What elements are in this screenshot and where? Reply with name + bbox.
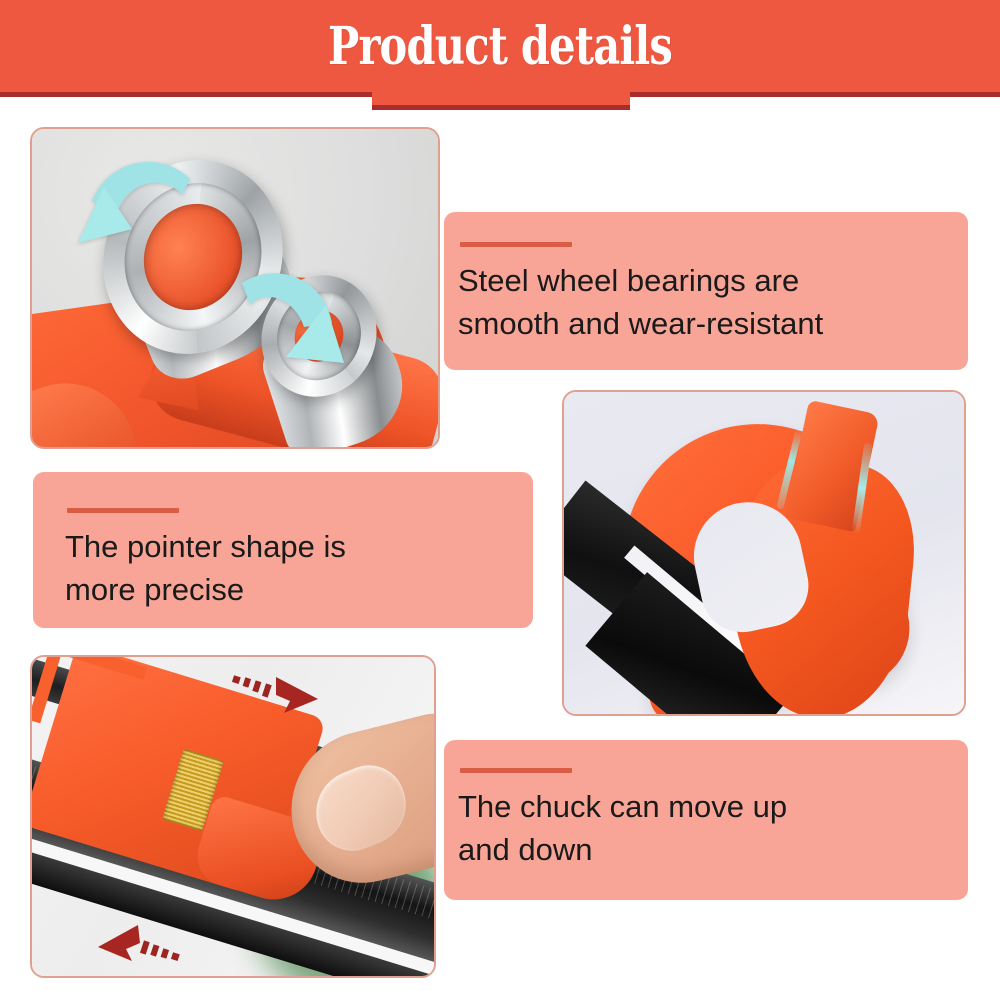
- feature-card-pointer: The pointer shape is more precise: [33, 472, 533, 628]
- photo-background: [564, 392, 964, 714]
- photo-steel-wheel-bearings: [30, 127, 440, 449]
- header-ribbon-left-shadow: [0, 92, 372, 97]
- accent-bar-chuck: [460, 768, 572, 773]
- arrow-up-right-icon: [232, 665, 322, 715]
- header-ribbon-tab: [372, 92, 630, 105]
- feature-card-chuck: The chuck can move up and down: [444, 740, 968, 900]
- feature-text-pointer: The pointer shape is more precise: [65, 525, 515, 611]
- thumbnail: [303, 755, 418, 862]
- page-title: Product details: [100, 0, 900, 92]
- feature-text-bearings: Steel wheel bearings are smooth and wear…: [458, 259, 958, 345]
- rotation-arrow-cyan-upper-icon: [70, 157, 200, 277]
- photo-pointer-shape: [562, 390, 966, 716]
- arrow-down-left-icon: [94, 919, 184, 971]
- accent-bar-pointer: [67, 508, 179, 513]
- feature-text-chuck: The chuck can move up and down: [458, 785, 958, 871]
- photo-chuck-movement: [30, 655, 436, 978]
- header-ribbon-right-shadow: [630, 92, 1000, 97]
- accent-bar-bearings: [460, 242, 572, 247]
- photo-background: [32, 657, 434, 976]
- rotation-arrow-cyan-lower-icon: [228, 271, 348, 386]
- feature-card-bearings: Steel wheel bearings are smooth and wear…: [444, 212, 968, 370]
- photo-background: [32, 129, 438, 447]
